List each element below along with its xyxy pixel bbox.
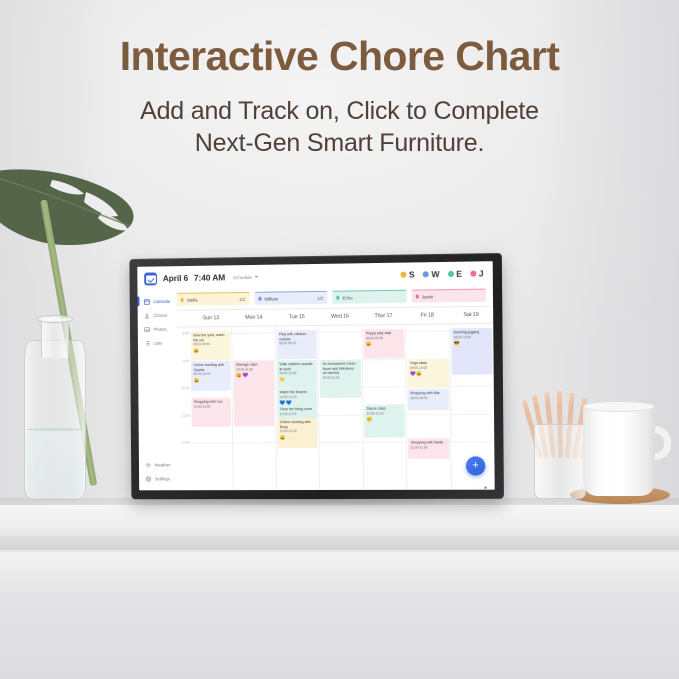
event-emoji: 😀	[194, 378, 229, 383]
view-selector-label: Schedule	[233, 274, 252, 279]
sidebar-item-chores[interactable]: Chores	[138, 308, 177, 322]
calendar-event-card[interactable]: Online meeting with Ross11:00-12:00😀	[277, 418, 318, 448]
time-label: 10:00	[181, 386, 189, 390]
event-emoji: 💛	[279, 378, 314, 383]
sidebar-item-settings[interactable]: Settings	[139, 471, 178, 485]
day-header-cell[interactable]: Mon 14	[232, 310, 275, 326]
event-time: 11:00-11:30	[411, 446, 447, 450]
subheadline-line-1: Add and Track on, Click to Complete	[0, 95, 679, 127]
member-pill-echo[interactable]: Echo	[332, 290, 406, 304]
desk-gloss	[0, 552, 679, 594]
calendar-event-card[interactable]: Walk children outside at work09:00-10:00…	[277, 360, 318, 387]
marketing-copy: Interactive Chore Chart Add and Track on…	[0, 34, 679, 159]
user-dot-icon	[400, 272, 406, 278]
chevron-down-icon	[254, 276, 258, 278]
sidebar-label: Calendar	[153, 298, 170, 303]
member-name: Stella	[187, 297, 198, 302]
sidebar-label: Lists	[154, 340, 163, 345]
calendar-event-card[interactable]: Play with children outside08:00-09:00	[277, 330, 318, 359]
gear-icon	[145, 475, 152, 482]
calendar-event-card[interactable]: Online meeting with Sophie09:00-10:00😀	[191, 361, 231, 391]
sidebar-label: Photos	[153, 326, 166, 331]
day-header-cell[interactable]: Sat 19	[449, 307, 493, 324]
user-dot-icon	[470, 271, 476, 277]
coffee-mug	[583, 404, 667, 496]
user-chip-s[interactable]: S	[400, 269, 414, 279]
day-column[interactable]: Manage cash09:00-11:30😀💜	[232, 326, 276, 490]
event-title: Play with children outside	[279, 332, 314, 341]
event-emoji: 😎	[454, 341, 490, 346]
app-body: Calendar Chores	[137, 285, 494, 490]
sidebar-label: Settings	[155, 476, 170, 481]
user-chip-e[interactable]: E	[448, 269, 462, 279]
member-dot-icon	[258, 297, 261, 300]
sidebar-item-calendar[interactable]: Calendar	[138, 294, 177, 308]
calendar-event-card[interactable]: Puppy play date08:00-09:00😀	[363, 329, 404, 359]
user-avatar-list: S W E J	[400, 268, 483, 279]
user-chip-j[interactable]: J	[470, 268, 484, 278]
day-header-cell[interactable]: Thur 17	[362, 308, 406, 325]
user-chip-letter: W	[431, 269, 439, 279]
sidebar-label: Weather	[155, 462, 171, 467]
headline: Interactive Chore Chart	[0, 34, 679, 78]
glass-vase	[24, 318, 86, 500]
user-dot-icon	[448, 271, 454, 277]
broom-icon	[144, 312, 151, 319]
event-emoji: 😀	[193, 348, 228, 353]
event-time: 10:30-11:00	[280, 413, 315, 417]
power-indicator	[485, 487, 487, 489]
day-column[interactable]: Play with children outside08:00-09:00Wal…	[275, 326, 320, 490]
event-time: 09:00-10:00	[279, 372, 314, 376]
weather-icon	[145, 461, 152, 468]
event-title: Mow the yard, wash the car	[193, 333, 228, 342]
day-header-cell[interactable]: Wed 16	[318, 308, 361, 325]
user-chip-letter: J	[479, 268, 484, 278]
member-name: Echo	[342, 295, 352, 300]
member-dot-icon	[336, 296, 339, 299]
time-label: 11:00	[182, 414, 190, 418]
subheadline: Add and Track on, Click to Complete Next…	[0, 95, 679, 159]
time-label: 9:00	[183, 359, 189, 363]
event-emoji: 😀💜	[236, 374, 271, 379]
user-dot-icon	[423, 271, 429, 277]
current-time: 7:40 AM	[194, 272, 225, 282]
day-header-cell[interactable]: Tue 15	[275, 309, 318, 326]
smart-display-device: April 6 7:40 AM Schedule S	[129, 253, 504, 499]
calendar-event-card[interactable]: Mow the yard, wash the car08:00-09:00😀	[191, 331, 231, 360]
event-time: 09:00-11:00	[323, 376, 359, 380]
event-emoji: 😊	[367, 418, 403, 423]
calendar-main: Stella 1/2 William 1/2 Echo	[177, 285, 495, 490]
event-emoji: 💜😀	[410, 372, 446, 377]
calendar-event-card[interactable]: Shopping with Leo10:30-11:00	[191, 398, 231, 427]
event-title: Walk children outside at work	[279, 362, 314, 371]
day-columns: Mow the yard, wash the car08:00-09:00😀On…	[190, 324, 495, 490]
member-name: Justin	[422, 294, 434, 299]
user-chip-letter: E	[456, 269, 462, 279]
photo-icon	[144, 325, 151, 332]
day-column[interactable]: Do housework Clean floors and Windows, d…	[318, 325, 363, 490]
sidebar-item-lists[interactable]: Lists	[138, 336, 177, 350]
calendar-app: April 6 7:40 AM Schedule S	[137, 261, 494, 490]
event-emoji: 😀	[366, 342, 402, 347]
event-time: 08:00-09:00	[279, 342, 314, 346]
event-time: 09:00-10:00	[194, 373, 229, 377]
event-time: 08:00-09:00	[410, 397, 446, 401]
day-header-cell[interactable]: Sun 13	[190, 310, 233, 326]
event-title: Online meeting with Sophie	[193, 363, 228, 372]
member-pill-stella[interactable]: Stella 1/2	[177, 292, 250, 306]
calendar-event-card[interactable]: Morning jogging08:00-10:00😎	[451, 328, 493, 375]
event-emoji: 😀	[280, 436, 315, 441]
current-date: April 6	[163, 273, 188, 283]
pencil-cup	[534, 424, 586, 499]
member-pill-william[interactable]: William 1/2	[254, 291, 327, 305]
day-header-cell[interactable]: Fri 18	[405, 307, 449, 324]
add-event-button[interactable]: +	[466, 456, 486, 475]
calendar-event-card[interactable]: Manage cash09:00-11:30😀💜	[234, 360, 275, 426]
calendar-event-card[interactable]: Shopping with Stella11:00-11:30	[408, 438, 449, 458]
user-chip-letter: S	[409, 269, 415, 279]
calendar-event-card[interactable]: Dance class10:30-11:00😊	[364, 404, 405, 437]
event-title: Online meeting with Ross	[280, 420, 315, 429]
subheadline-line-2: Next-Gen Smart Furniture.	[0, 127, 679, 159]
day-column[interactable]: Puppy play date08:00-09:00😀Dance class10…	[361, 325, 406, 490]
member-dot-icon	[415, 295, 418, 298]
view-selector[interactable]: Schedule	[233, 274, 258, 279]
calendar-event-card[interactable]: Clear the living room10:30-11:00	[277, 405, 317, 418]
sidebar-label: Chores	[153, 312, 167, 317]
calendar-icon	[143, 298, 150, 305]
member-progress: 1/2	[317, 295, 323, 300]
event-time: 11:00-12:00	[280, 430, 315, 434]
day-column[interactable]: Mow the yard, wash the car08:00-09:00😀On…	[190, 327, 233, 490]
user-chip-w[interactable]: W	[423, 269, 440, 279]
calendar-grid: 8:009:0010:0011:0012:00 Mow the yard, wa…	[177, 323, 495, 490]
sidebar-item-photos[interactable]: Photos	[138, 322, 177, 336]
member-dot-icon	[181, 298, 184, 301]
member-progress: 1/2	[239, 296, 245, 301]
calendar-event-card[interactable]: Water the flowers10:00-10:30💙💙	[277, 388, 317, 405]
time-label: 8:00	[183, 331, 189, 335]
display-screen: April 6 7:40 AM Schedule S	[137, 261, 494, 490]
event-time: 10:30-11:00	[194, 405, 229, 409]
calendar-event-card[interactable]: Shopping with Mia08:00-09:00	[408, 389, 449, 410]
event-title: Do housework Clean floors and Windows, d…	[323, 362, 359, 375]
display-bezel: April 6 7:40 AM Schedule S	[129, 253, 504, 499]
calendar-event-card[interactable]: Yoga class09:00-10:00💜😀	[407, 359, 448, 389]
event-time: 08:00-09:00	[193, 343, 228, 347]
monstera-leaf	[0, 168, 140, 288]
list-icon	[144, 339, 151, 346]
sidebar-item-weather[interactable]: Weather	[139, 458, 178, 472]
member-name: William	[264, 296, 278, 301]
sidebar: Calendar Chores	[137, 290, 178, 490]
day-column[interactable]: Yoga class09:00-10:00💜😀Shopping with Mia…	[405, 324, 450, 489]
calendar-icon	[144, 272, 157, 285]
calendar-event-card[interactable]: Do housework Clean floors and Windows, d…	[320, 360, 361, 398]
time-label: 12:00	[182, 441, 190, 445]
member-pill-justin[interactable]: Justin	[411, 289, 486, 303]
